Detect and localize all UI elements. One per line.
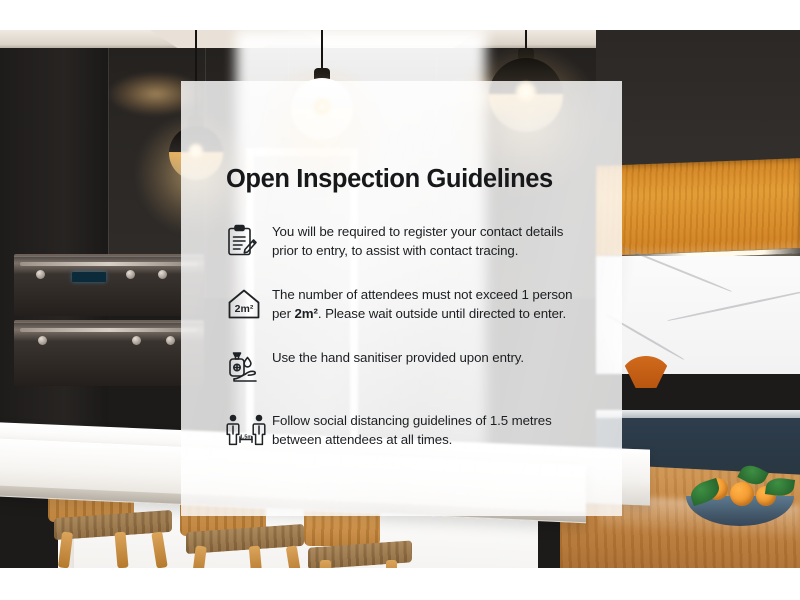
orange-fruit bbox=[730, 482, 754, 506]
page-title: Open Inspection Guidelines bbox=[226, 165, 586, 193]
hand-sanitiser-icon bbox=[226, 346, 272, 388]
stool-leg bbox=[249, 546, 263, 568]
stool-leg bbox=[114, 532, 128, 568]
guidelines-overlay-panel: Open Inspection Guidelines bbox=[181, 81, 622, 516]
oven-knob bbox=[166, 336, 175, 345]
marble-vein bbox=[667, 288, 800, 321]
oven-knob bbox=[158, 270, 167, 279]
right-upper-cabinetry bbox=[596, 30, 800, 168]
oven-handle bbox=[20, 262, 198, 266]
svg-text:2m²: 2m² bbox=[235, 303, 254, 315]
stool-leg bbox=[286, 545, 302, 568]
stool-leg bbox=[320, 560, 331, 568]
list-item: You will be required to register your co… bbox=[226, 219, 586, 262]
guideline-text: You will be required to register your co… bbox=[272, 219, 586, 261]
marble-splashback bbox=[596, 256, 800, 374]
oven-knob bbox=[36, 270, 45, 279]
guideline-text: Use the hand sanitiser provided upon ent… bbox=[272, 345, 524, 367]
wall-oven-lower bbox=[14, 320, 204, 386]
list-item: Use the hand sanitiser provided upon ent… bbox=[226, 345, 586, 388]
list-item: 1.5m Follow social distancing guidelines… bbox=[226, 408, 586, 451]
list-item: 2m² The number of attendees must not exc… bbox=[226, 282, 586, 325]
stool-leg bbox=[192, 545, 207, 568]
wall-oven-upper bbox=[14, 254, 204, 316]
timber-wall-panel bbox=[596, 158, 800, 256]
stool-leg bbox=[151, 531, 167, 568]
oven-knob bbox=[38, 336, 47, 345]
clipboard-pen-icon bbox=[226, 220, 272, 262]
guideline-text: Follow social distancing guidelines of 1… bbox=[272, 408, 586, 450]
oven-display bbox=[72, 272, 106, 282]
guideline-list: You will be required to register your co… bbox=[226, 219, 586, 451]
pendant-cord bbox=[321, 30, 323, 72]
oven-knob bbox=[132, 336, 141, 345]
guideline-text: The number of attendees must not exceed … bbox=[272, 282, 586, 324]
stool-leg bbox=[386, 560, 397, 568]
social-distancing-icon: 1.5m bbox=[226, 409, 272, 451]
oven-handle bbox=[20, 328, 198, 332]
poster-canvas: Open Inspection Guidelines bbox=[0, 0, 800, 600]
panel-content: Open Inspection Guidelines bbox=[181, 81, 622, 451]
oven-knob bbox=[126, 270, 135, 279]
two-square-metres-house-icon: 2m² bbox=[226, 283, 272, 325]
svg-text:1.5m: 1.5m bbox=[240, 434, 252, 440]
